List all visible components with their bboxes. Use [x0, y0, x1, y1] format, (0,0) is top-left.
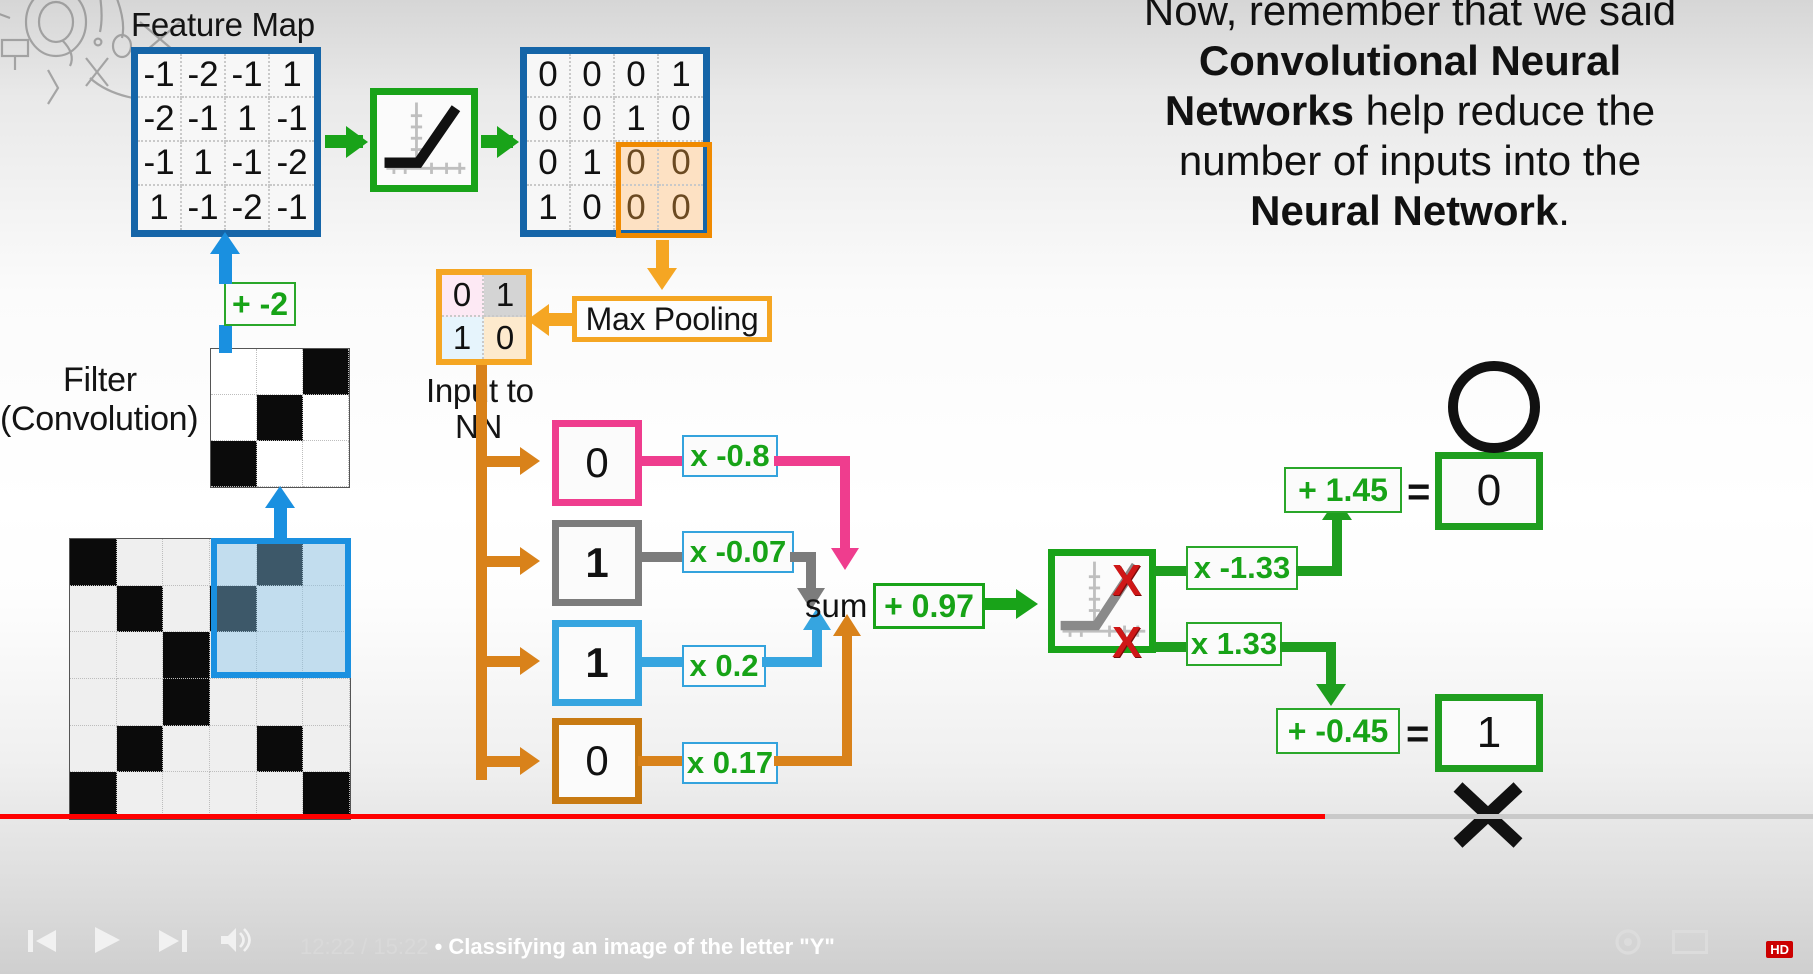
arrow-bias-to-relu2-head — [1016, 589, 1038, 619]
image-pixel — [70, 726, 117, 773]
filter-cell — [257, 349, 303, 395]
feature-map-matrix: -1-2-11-2-11-1-11-1-21-1-2-1 — [131, 47, 321, 237]
image-pixel — [163, 726, 210, 773]
image-pixel — [117, 586, 164, 633]
red-x-mark-bottom: X — [1112, 618, 1141, 668]
arrow-wbottom-to-bias-head — [1316, 684, 1346, 706]
image-pixel — [257, 679, 304, 726]
play-icon[interactable] — [90, 924, 124, 956]
filter-label-line2: (Convolution) — [0, 400, 198, 439]
weight-chip-node1: x -0.8 — [682, 435, 778, 477]
output-weight-chip-bottom: x 1.33 — [1186, 622, 1282, 666]
matrix-cell: 0 — [615, 54, 659, 98]
filter-label-line1: Filter — [63, 361, 137, 400]
edge-wtop-to-bias-v — [1332, 520, 1342, 572]
sum-label: sum — [805, 587, 867, 625]
max-pooling-box: Max Pooling — [572, 296, 772, 342]
image-pixel — [163, 586, 210, 633]
feature-map-label: Feature Map — [131, 6, 315, 44]
nn-node-1: 0 — [552, 420, 642, 506]
image-pixel — [163, 632, 210, 679]
arrow-pool-to-input-shaft — [547, 313, 577, 326]
edge-wbottom-to-bias-v — [1326, 642, 1336, 690]
relu-output-matrix: 0001001001001000 — [520, 47, 710, 237]
output-bias-chip-2: + -0.45 — [1276, 708, 1400, 754]
edge-node4-to-weight — [638, 756, 686, 766]
hidden-bias-chip: + 0.97 — [873, 583, 985, 629]
caption-line-2: Convolutional Neural — [1199, 37, 1621, 84]
time-current: 12:22 — [300, 934, 355, 959]
filter-cell — [257, 441, 303, 487]
weight-chip-node2: x -0.07 — [682, 531, 794, 573]
matrix-cell: -1 — [138, 54, 182, 98]
edge-weight1-to-sum-h — [774, 456, 850, 466]
matrix-cell: 1 — [571, 142, 615, 186]
edge-weight4-to-sum-h — [774, 756, 852, 766]
matrix-cell: -1 — [226, 54, 270, 98]
matrix-cell: 0 — [659, 142, 703, 186]
matrix-cell: 0 — [527, 98, 571, 142]
nn-node-4: 0 — [552, 718, 642, 804]
matrix-cell: -2 — [182, 54, 226, 98]
edge-weight3-to-sum-v — [812, 630, 822, 667]
convolution-bias-chip: + -2 — [224, 282, 296, 326]
matrix-cell: 1 — [138, 186, 182, 230]
image-pixel — [163, 772, 210, 819]
equals-sign-2: = — [1406, 712, 1429, 757]
image-pixel — [303, 726, 350, 773]
matrix-cell: -1 — [138, 142, 182, 186]
caption-line-1: Now, remember that we said — [1080, 0, 1740, 36]
matrix-cell: 0 — [659, 98, 703, 142]
player-time-and-title: 12:22 / 15:22 • Classifying an image of … — [300, 934, 835, 960]
hd-badge: HD — [1766, 941, 1793, 958]
matrix-cell: -2 — [226, 186, 270, 230]
convolution-filter — [210, 348, 350, 488]
arrow-bus-to-node1-head — [520, 447, 540, 475]
matrix-cell: 0 — [527, 54, 571, 98]
image-pixel — [117, 726, 164, 773]
filter-cell — [303, 349, 349, 395]
matrix-cell: -1 — [182, 98, 226, 142]
nn-node-2: 1 — [552, 520, 642, 606]
image-pixel — [163, 679, 210, 726]
matrix-cell: 1 — [270, 54, 314, 98]
matrix-cell: 0 — [571, 98, 615, 142]
matrix-cell: 1 — [527, 186, 571, 230]
weight-chip-node4: x 0.17 — [682, 742, 778, 784]
gear-icon[interactable] — [1612, 926, 1644, 958]
equals-sign-1: = — [1407, 470, 1430, 515]
nn-input-matrix: 0110 — [436, 269, 532, 365]
image-pixel — [117, 772, 164, 819]
video-player-controls: 12:22 / 15:22 • Classifying an image of … — [0, 910, 1813, 974]
output-bias-chip-1: + 1.45 — [1284, 467, 1402, 513]
next-track-icon[interactable] — [155, 926, 189, 956]
arrow-relu-to-out-head — [497, 126, 519, 158]
output-weight-chip-top: x -1.33 — [1186, 546, 1298, 590]
nn-input-cell: 0 — [484, 317, 526, 359]
matrix-cell: -2 — [270, 142, 314, 186]
matrix-cell: 0 — [659, 186, 703, 230]
image-pixel — [210, 772, 257, 819]
matrix-cell: -1 — [270, 98, 314, 142]
video-title: • Classifying an image of the letter "Y" — [428, 934, 834, 959]
volume-icon[interactable] — [218, 924, 254, 956]
relu-activation-box — [370, 88, 478, 192]
caption-line-5-rest: . — [1558, 187, 1570, 234]
time-separator: / — [355, 934, 373, 959]
image-pixel — [70, 632, 117, 679]
edge-node2-to-weight — [638, 552, 686, 562]
matrix-cell: -1 — [270, 186, 314, 230]
arrow-weight1-to-sum-head — [831, 548, 859, 570]
image-pixel — [257, 772, 304, 819]
matrix-cell: 0 — [615, 186, 659, 230]
arrow-bus-to-node2-head — [520, 547, 540, 575]
image-pixel — [70, 772, 117, 819]
arrow-bus-to-node4-head — [520, 747, 540, 775]
image-pixel — [117, 679, 164, 726]
image-pixel — [117, 632, 164, 679]
nn-input-cell: 1 — [484, 275, 526, 317]
arrow-fm-to-relu-head — [346, 126, 368, 158]
edge-weight1-to-sum-v — [840, 456, 850, 556]
arrow-pool-down-head — [647, 268, 677, 290]
matrix-cell: 0 — [571, 54, 615, 98]
image-pixel — [117, 539, 164, 586]
filter-cell — [211, 441, 257, 487]
matrix-cell: 0 — [615, 142, 659, 186]
theater-mode-icon[interactable] — [1672, 930, 1708, 954]
edge-node1-to-weight — [638, 456, 686, 466]
caption-line-5-bold: Neural Network — [1250, 187, 1558, 234]
matrix-cell: 1 — [659, 54, 703, 98]
max-pooling-label: Max Pooling — [586, 301, 759, 338]
filter-cell — [257, 395, 303, 441]
matrix-cell: -1 — [182, 186, 226, 230]
progress-bar-played[interactable] — [0, 814, 1325, 819]
weight-chip-node3: x 0.2 — [682, 645, 766, 687]
filter-cell — [211, 349, 257, 395]
caption-line-4: number of inputs into the — [1080, 136, 1740, 186]
image-pixel — [163, 539, 210, 586]
arrow-bus-to-node3-head — [520, 647, 540, 675]
arrow-filter-to-fm-head — [210, 232, 240, 254]
filter-selection-window — [211, 538, 351, 678]
red-x-mark-top: X — [1112, 556, 1141, 606]
letter-o-circle-symbol — [1448, 361, 1540, 453]
image-pixel — [303, 679, 350, 726]
image-pixel — [303, 772, 350, 819]
image-pixel — [70, 539, 117, 586]
output-box-1: 0 — [1435, 452, 1543, 530]
arrow-filter-to-fm-shaft-low — [219, 325, 232, 353]
video-caption: Now, remember that we said Convolutional… — [1080, 0, 1740, 236]
filter-cell — [211, 395, 257, 441]
image-pixel — [257, 726, 304, 773]
caption-line-3-bold: Networks — [1165, 87, 1354, 134]
previous-track-icon[interactable] — [26, 926, 60, 956]
matrix-cell: 1 — [226, 98, 270, 142]
arrow-image-to-filter-head — [265, 486, 295, 508]
nn-node-3: 1 — [552, 620, 642, 706]
time-total: 15:22 — [373, 934, 428, 959]
image-pixel — [210, 726, 257, 773]
output-box-2: 1 — [1435, 694, 1543, 772]
matrix-cell: -1 — [226, 142, 270, 186]
nn-input-cell: 1 — [442, 317, 484, 359]
matrix-cell: 0 — [527, 142, 571, 186]
nn-input-cell: 0 — [442, 275, 484, 317]
filter-cell — [303, 441, 349, 487]
matrix-cell: 0 — [571, 186, 615, 230]
image-pixel — [210, 679, 257, 726]
edge-node3-to-weight — [638, 657, 686, 667]
matrix-cell: 1 — [615, 98, 659, 142]
nn-input-bus — [476, 365, 487, 780]
image-pixel — [70, 679, 117, 726]
filter-cell — [303, 395, 349, 441]
image-pixel — [70, 586, 117, 633]
matrix-cell: -2 — [138, 98, 182, 142]
edge-weight4-to-sum-v — [842, 636, 852, 766]
relu-activation-plot — [377, 95, 471, 189]
caption-line-3-rest: help reduce the — [1354, 87, 1655, 134]
matrix-cell: 1 — [182, 142, 226, 186]
